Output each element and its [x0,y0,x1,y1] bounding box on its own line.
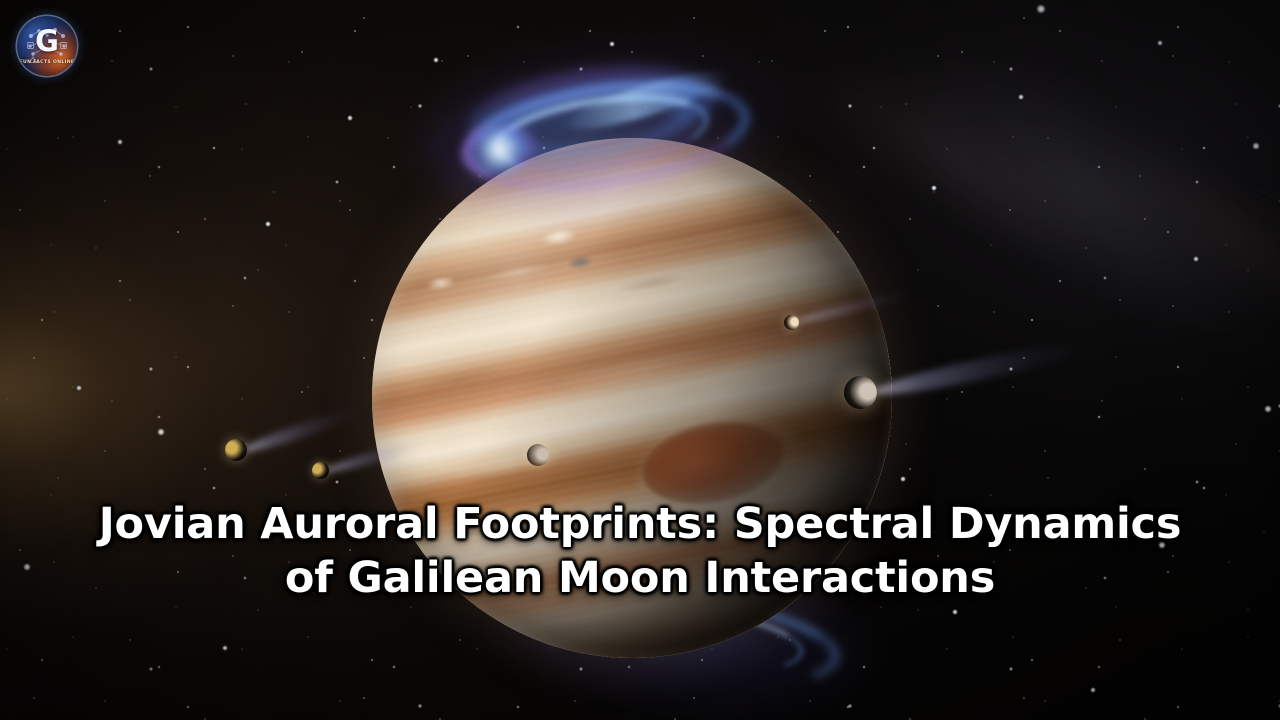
title-block: Jovian Auroral Footprints: Spectral Dyna… [0,497,1280,605]
title-line-2: of Galilean Moon Interactions [60,551,1220,605]
moon-outer-left [225,439,247,461]
moon-upper-right [784,315,799,330]
moon-inner-left [312,462,329,479]
moon-lower-right [844,376,877,409]
logo-wordmark: FUN FACTS ONLINE [17,60,77,65]
moon-transiting [527,444,549,466]
fun-facts-online-logo[interactable]: G FUN FACTS ONLINE [17,16,77,76]
scene-canvas: Jovian Auroral Footprints: Spectral Dyna… [0,0,1280,720]
logo-letter-g: G [17,27,77,56]
title-line-1: Jovian Auroral Footprints: Spectral Dyna… [60,497,1220,551]
